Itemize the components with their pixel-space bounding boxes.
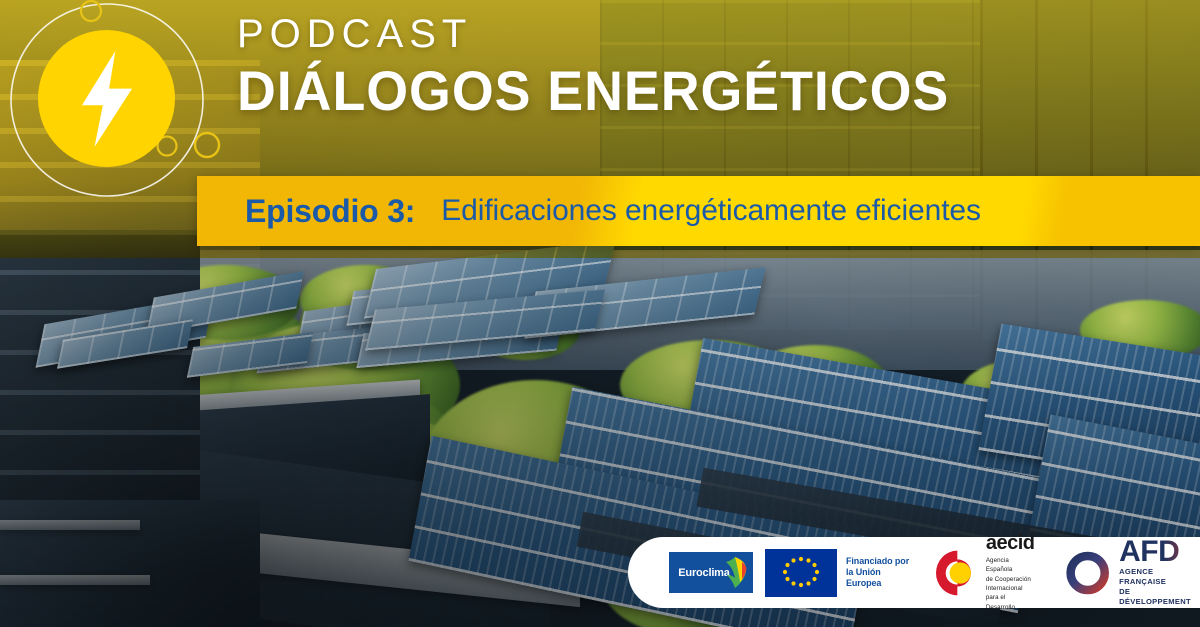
eu-funding-caption: Financiado por la Unión Europea bbox=[846, 556, 910, 590]
lightning-bolt-icon bbox=[74, 51, 140, 147]
euroclima-logo: Euroclima bbox=[669, 552, 753, 593]
european-union-flag bbox=[765, 549, 837, 597]
podcast-title: DIÁLOGOS ENERGÉTICOS bbox=[237, 63, 949, 119]
episode-title: Edificaciones energéticamente eficientes bbox=[441, 194, 981, 228]
afd-subtitle: AGENCE FRANÇAISE DE DÉVELOPPEMENT bbox=[1119, 567, 1200, 606]
aecid-sub-line-3: Internacional bbox=[986, 584, 1036, 593]
small-circle-decoration bbox=[81, 1, 101, 21]
afd-ring-icon bbox=[1064, 548, 1111, 598]
afd-text-block: AFD AGENCE FRANÇAISE DE DÉVELOPPEMENT bbox=[1119, 538, 1200, 606]
funder-logo-bar: Euroclima bbox=[628, 537, 1200, 608]
afd-sub-line-2: DE DÉVELOPPEMENT bbox=[1119, 587, 1200, 607]
small-circle-decoration bbox=[195, 133, 219, 157]
aecid-sub-line-4: para el Desarrollo bbox=[986, 593, 1036, 612]
podcast-kicker: PODCAST bbox=[237, 14, 979, 54]
eu-caption-line-1: Financiado por bbox=[846, 556, 910, 567]
aecid-logo: aecid Agencia Española de Cooperación In… bbox=[936, 533, 1036, 612]
eu-funding-logo: Financiado por la Unión Europea bbox=[753, 549, 910, 597]
eu-stars-icon bbox=[765, 549, 837, 597]
episode-number-label: Episodio 3: bbox=[245, 193, 415, 230]
aecid-subtitle: Agencia Española de Cooperación Internac… bbox=[986, 556, 1036, 612]
podcast-logo-badge bbox=[38, 30, 175, 167]
header-text-block: PODCAST DIÁLOGOS ENERGÉTICOS bbox=[237, 14, 979, 119]
aecid-text-block: aecid Agencia Española de Cooperación In… bbox=[986, 533, 1036, 612]
afd-wordmark: AFD bbox=[1119, 538, 1200, 565]
afd-logo: AFD AGENCE FRANÇAISE DE DÉVELOPPEMENT bbox=[1064, 538, 1200, 606]
aecid-sub-line-1: Agencia Española bbox=[986, 556, 1036, 575]
aecid-sub-line-2: de Cooperación bbox=[986, 575, 1036, 584]
podcast-cover-canvas: PODCAST DIÁLOGOS ENERGÉTICOS Episodio 3:… bbox=[0, 0, 1200, 627]
afd-sub-line-1: AGENCE FRANÇAISE bbox=[1119, 567, 1200, 587]
aecid-wordmark: aecid bbox=[986, 533, 1036, 553]
euroclima-mark: Euroclima bbox=[669, 552, 753, 593]
eu-caption-line-2: la Unión Europea bbox=[846, 567, 910, 590]
episode-banner: Episodio 3: Edificaciones energéticament… bbox=[197, 176, 1200, 246]
balcony-rail bbox=[0, 575, 150, 585]
euroclima-leaf-icon bbox=[722, 556, 748, 589]
balcony-rail bbox=[0, 520, 140, 530]
aecid-mark-icon bbox=[936, 549, 979, 597]
